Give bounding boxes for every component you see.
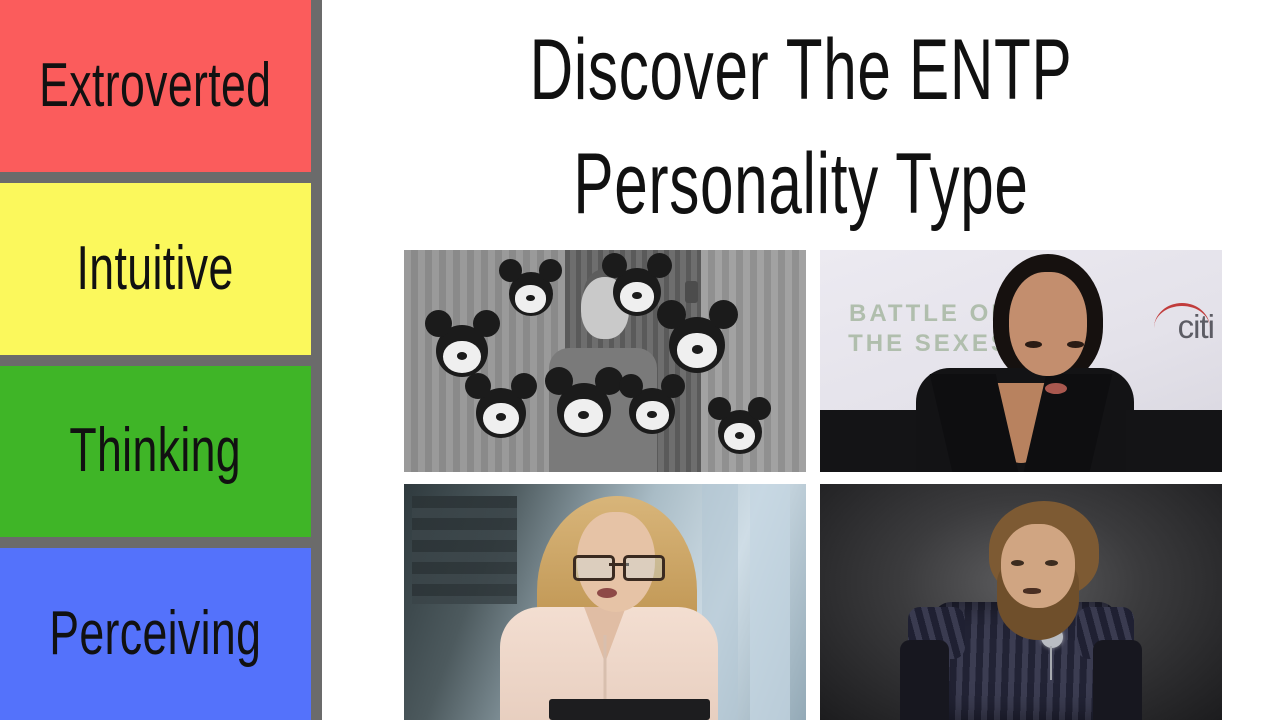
photo-person-glasses-icon <box>573 555 665 575</box>
photo-mickey-plush <box>718 410 762 454</box>
trait-label-perceiving: Perceiving <box>49 603 261 665</box>
photo-person-lips <box>597 588 617 598</box>
photo-mickey-plush <box>629 388 675 434</box>
trait-separator <box>0 537 311 548</box>
photo-blonde-woman-glasses-office <box>404 484 806 720</box>
photo-person-face <box>1001 524 1075 608</box>
trait-block-perceiving: Perceiving <box>0 548 311 720</box>
trait-block-extroverted: Extroverted <box>0 0 311 172</box>
photo-walt-disney-with-mickey-plushes <box>404 250 806 472</box>
photo-door-knob <box>685 281 698 303</box>
content-area: Discover The ENTP Personality Type <box>322 0 1280 720</box>
photo-glasses-lens-right <box>623 555 665 581</box>
sidebar-divider <box>311 0 322 720</box>
photo-grid: BATTLE OF THE SEXES citi <box>404 250 1222 720</box>
photo-backdrop-text-line-1: BATTLE OF <box>849 300 1009 327</box>
photo-person-tablet <box>549 699 710 720</box>
trait-label-extroverted: Extroverted <box>39 55 271 117</box>
page-title-line-2: Personality Type <box>466 128 1137 242</box>
photo-person-arm-left <box>820 410 916 472</box>
photo-mickey-plush <box>476 388 526 438</box>
photo-background-window-pane-outer <box>750 484 790 720</box>
photo-person-eye-left <box>1011 560 1024 566</box>
photo-bearded-man-striped-costume <box>820 484 1222 720</box>
photo-sponsor-logo-text: citi <box>1178 308 1214 346</box>
photo-person-mouth <box>1023 588 1041 594</box>
photo-mickey-plush <box>557 383 611 437</box>
trait-block-intuitive: Intuitive <box>0 183 311 355</box>
trait-separator <box>0 172 311 183</box>
photo-backdrop-text-line-2: THE SEXES <box>848 330 1010 357</box>
photo-mickey-plush <box>613 268 661 316</box>
photo-person-eye-left <box>1025 341 1042 348</box>
photo-mickey-plush <box>509 272 553 316</box>
trait-panel: Extroverted Intuitive Thinking Perceivin… <box>0 0 311 720</box>
photo-glasses-lens-left <box>573 555 615 581</box>
page-title: Discover The ENTP Personality Type <box>322 14 1280 241</box>
photo-person-arm-right <box>1126 410 1222 472</box>
photo-person-arm-left <box>900 640 948 720</box>
photo-person-arm-right <box>1093 640 1141 720</box>
photo-background-shelf <box>412 496 517 605</box>
trait-label-intuitive: Intuitive <box>77 238 234 300</box>
photo-mickey-plush <box>669 317 725 373</box>
photo-person-eye-right <box>1045 560 1058 566</box>
trait-block-thinking: Thinking <box>0 366 311 538</box>
trait-separator <box>0 355 311 366</box>
page-title-line-1: Discover The ENTP <box>466 14 1137 128</box>
trait-label-thinking: Thinking <box>70 420 242 482</box>
photo-backdrop-text: BATTLE OF THE SEXES <box>848 299 1010 359</box>
slide-canvas: Extroverted Intuitive Thinking Perceivin… <box>0 0 1280 720</box>
photo-woman-red-carpet: BATTLE OF THE SEXES citi <box>820 250 1222 472</box>
photo-person-face <box>1009 272 1087 376</box>
